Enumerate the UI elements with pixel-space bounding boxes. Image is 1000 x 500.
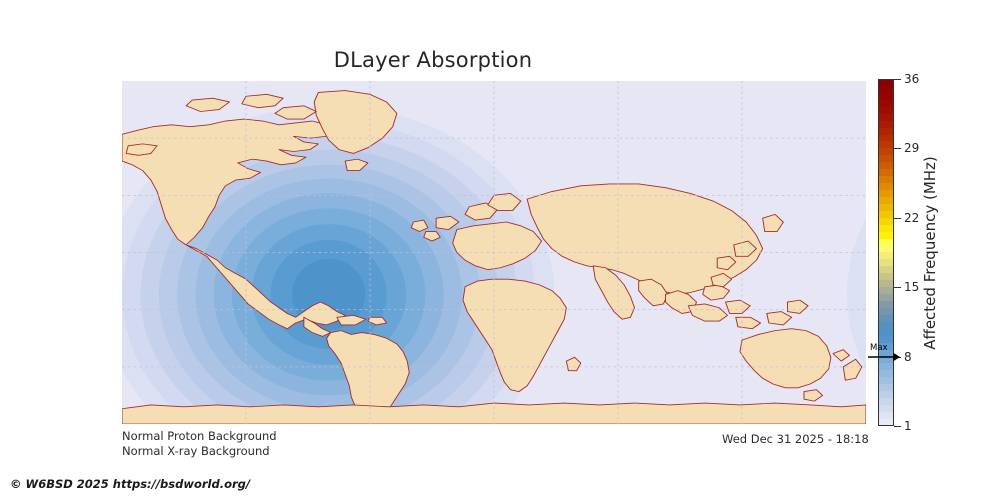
- colorbar-band: [878, 246, 894, 253]
- colorbar-band: [878, 266, 894, 273]
- colorbar-tick-label: 15: [904, 280, 919, 294]
- colorbar-band: [878, 391, 894, 398]
- world-map[interactable]: [122, 81, 866, 424]
- colorbar-band: [878, 384, 894, 391]
- colorbar-band: [878, 190, 894, 197]
- colorbar-tick-label: 36: [904, 72, 919, 86]
- colorbar-band: [878, 93, 894, 100]
- colorbar-band: [878, 329, 894, 336]
- colorbar-band: [878, 114, 894, 121]
- colorbar-band: [878, 204, 894, 211]
- colorbar-band: [878, 336, 894, 343]
- colorbar-band: [878, 377, 894, 384]
- colorbar-band: [878, 141, 894, 148]
- colorbar-tick: [894, 426, 901, 427]
- colorbar-band: [878, 135, 894, 142]
- figure-canvas: DLayer Absorption: [0, 0, 1000, 500]
- colorbar-tick: [894, 218, 901, 219]
- timestamp: Wed Dec 31 2025 - 18:18: [722, 432, 869, 446]
- colorbar-band: [878, 370, 894, 377]
- colorbar-axis-label-text: Affected Frequency (MHz): [921, 156, 939, 350]
- colorbar-band: [878, 315, 894, 322]
- colorbar-tick-label: 22: [904, 211, 919, 225]
- colorbar-band: [878, 128, 894, 135]
- page-title: DLayer Absorption: [0, 48, 866, 72]
- colorbar-tick: [894, 287, 901, 288]
- colorbar-band: [878, 308, 894, 315]
- max-marker: Max: [866, 343, 902, 369]
- colorbar-axis-label: Affected Frequency (MHz): [918, 79, 942, 426]
- colorbar-band: [878, 239, 894, 246]
- colorbar-band: [878, 232, 894, 239]
- colorbar-band: [878, 294, 894, 301]
- colorbar-band: [878, 273, 894, 280]
- colorbar-band: [878, 405, 894, 412]
- colorbar-band: [878, 225, 894, 232]
- xray-background-status: Normal X-ray Background: [122, 444, 277, 459]
- colorbar-band: [878, 169, 894, 176]
- colorbar-band: [878, 218, 894, 225]
- colorbar-band: [878, 176, 894, 183]
- colorbar-band: [878, 301, 894, 308]
- colorbar-band: [878, 211, 894, 218]
- colorbar-tick: [894, 148, 901, 149]
- colorbar-tick: [894, 79, 901, 80]
- max-arrow-icon: [866, 343, 902, 369]
- colorbar-band: [878, 121, 894, 128]
- colorbar-band: [878, 162, 894, 169]
- colorbar-band: [878, 107, 894, 114]
- colorbar-band: [878, 183, 894, 190]
- colorbar-band: [878, 259, 894, 266]
- colorbar-band: [878, 287, 894, 294]
- colorbar[interactable]: 1815222936: [878, 79, 894, 426]
- colorbar-band: [878, 86, 894, 93]
- colorbar-band: [878, 252, 894, 259]
- colorbar-band: [878, 419, 894, 426]
- colorbar-band: [878, 322, 894, 329]
- colorbar-band: [878, 197, 894, 204]
- colorbar-tick-label: 1: [904, 419, 912, 433]
- colorbar-tick-label: 8: [904, 350, 912, 364]
- colorbar-band: [878, 155, 894, 162]
- colorbar-band: [878, 148, 894, 155]
- colorbar-tick-label: 29: [904, 141, 919, 155]
- colorbar-band: [878, 398, 894, 405]
- map-svg: [122, 81, 866, 424]
- colorbar-band: [878, 412, 894, 419]
- colorbar-band: [878, 79, 894, 86]
- colorbar-gradient: [878, 79, 894, 426]
- status-annotations: Normal Proton Background Normal X-ray Ba…: [122, 429, 277, 458]
- colorbar-band: [878, 100, 894, 107]
- colorbar-band: [878, 280, 894, 287]
- copyright-notice: © W6BSD 2025 https://bsdworld.org/: [10, 477, 250, 491]
- proton-background-status: Normal Proton Background: [122, 429, 277, 444]
